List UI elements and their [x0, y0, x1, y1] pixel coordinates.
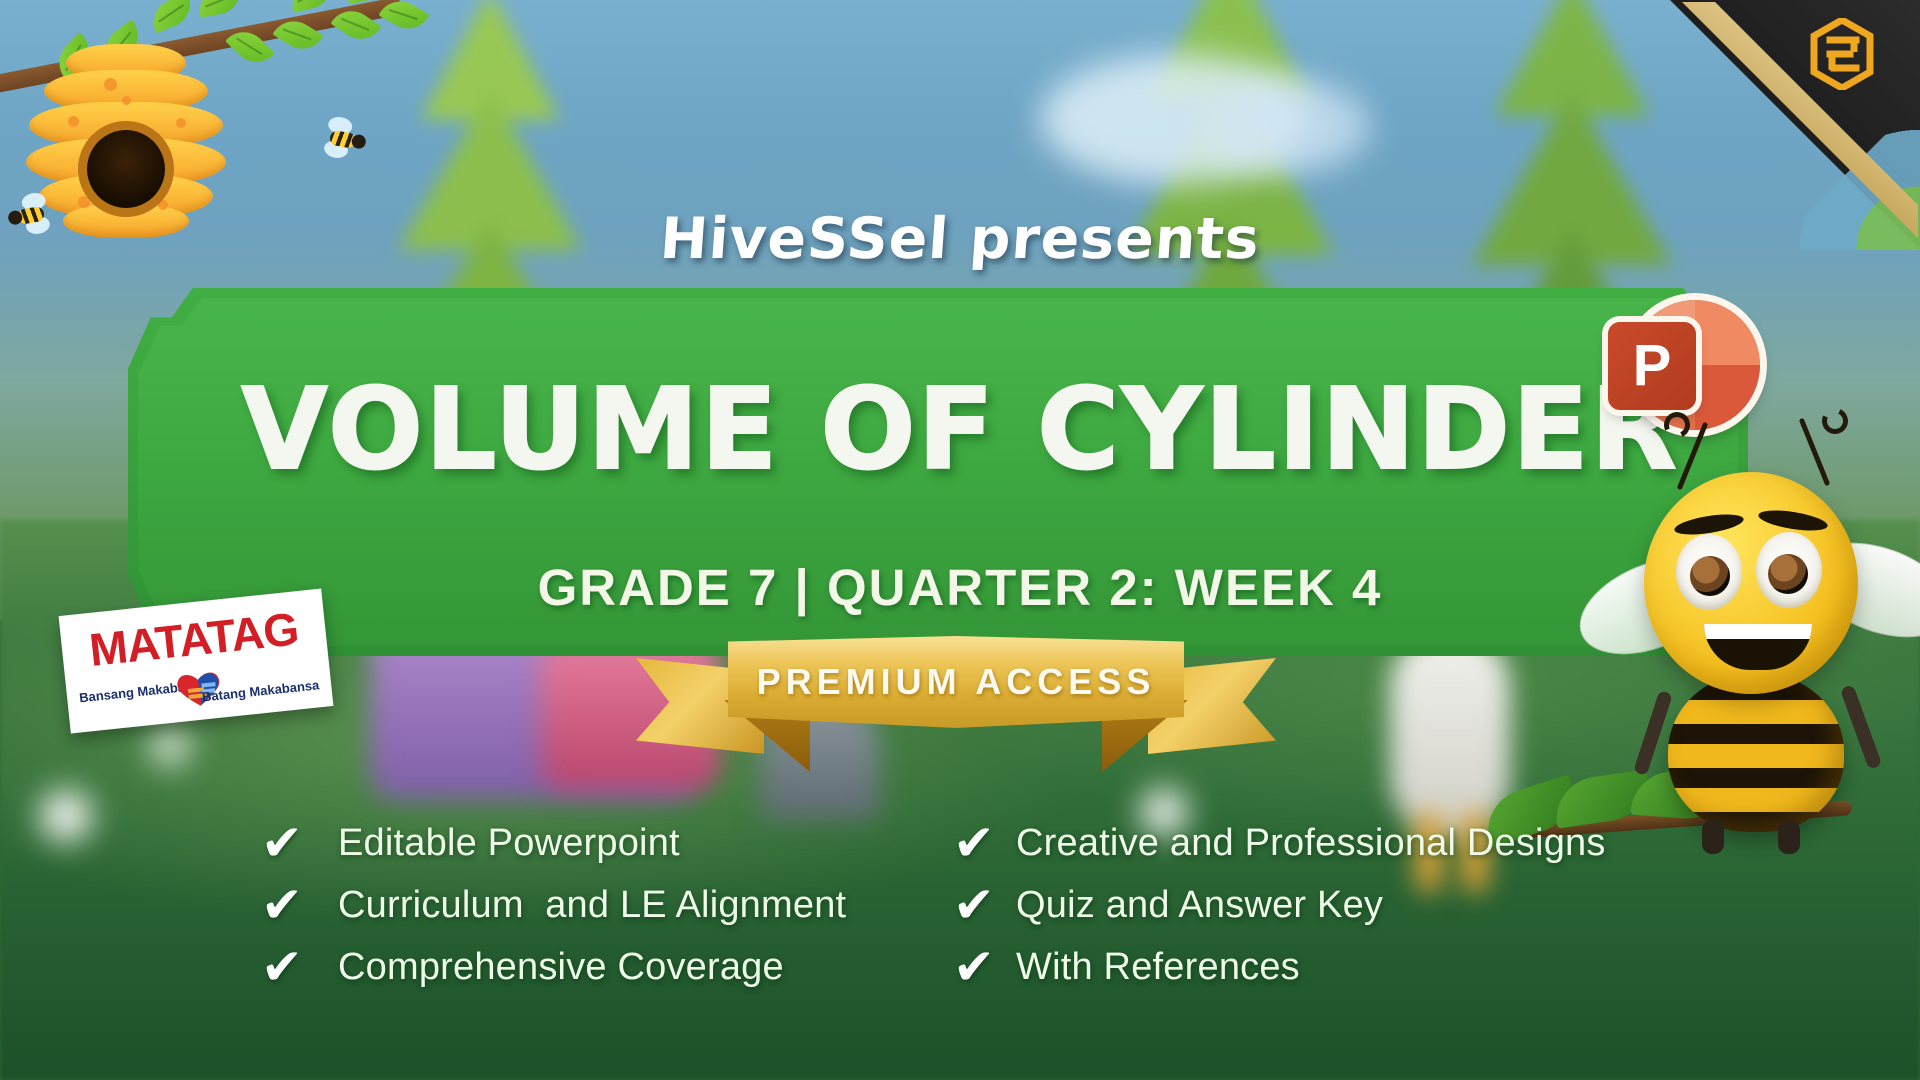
- feature-item: ✔ Creative and Professional Designs: [948, 812, 1708, 874]
- feature-item: ✔ Quiz and Answer Key: [948, 874, 1708, 936]
- bee-body: [1668, 672, 1844, 832]
- beehive-entrance: [87, 130, 165, 208]
- feature-item: ✔ With References: [948, 936, 1708, 998]
- feature-item: ✔ Comprehensive Coverage: [256, 936, 976, 998]
- feature-label: With References: [1016, 946, 1300, 989]
- feature-item: ✔ Curriculum and LE Alignment: [256, 874, 976, 936]
- feature-lists: ✔ Editable Powerpoint ✔ Curriculum and L…: [0, 812, 1920, 1042]
- check-icon: ✔: [948, 942, 1000, 992]
- presenter-line: HiveSSel presents: [0, 206, 1920, 272]
- feature-item: ✔ Editable Powerpoint: [256, 812, 976, 874]
- feature-column-left: ✔ Editable Powerpoint ✔ Curriculum and L…: [256, 812, 976, 998]
- feature-label: Curriculum and LE Alignment: [324, 884, 846, 927]
- bee-mascot: [1582, 428, 1920, 852]
- feature-label: Editable Powerpoint: [324, 822, 680, 865]
- background-cloud: [1200, 78, 1370, 174]
- feature-label: Comprehensive Coverage: [324, 946, 784, 989]
- check-icon: ✔: [256, 818, 308, 868]
- hivessel-hex-logo: [1810, 18, 1874, 90]
- feature-column-right: ✔ Creative and Professional Designs ✔ Qu…: [948, 812, 1708, 998]
- bee-icon: [320, 122, 368, 155]
- leaf-icon: [196, 0, 244, 18]
- feature-label: Quiz and Answer Key: [1016, 884, 1383, 927]
- slide-cover: HiveSSel presents VOLUME OF CYLINDER GRA…: [0, 0, 1920, 1080]
- powerpoint-icon-letter: P: [1608, 322, 1696, 410]
- feature-label: Creative and Professional Designs: [1016, 822, 1606, 865]
- ribbon-label: PREMIUM ACCESS: [728, 636, 1184, 728]
- background-flower: [150, 726, 190, 766]
- check-icon: ✔: [256, 942, 308, 992]
- check-icon: ✔: [256, 880, 308, 930]
- check-icon: ✔: [948, 880, 1000, 930]
- leaf-icon: [147, 0, 198, 33]
- premium-ribbon: PREMIUM ACCESS: [636, 632, 1276, 762]
- check-icon: ✔: [948, 818, 1000, 868]
